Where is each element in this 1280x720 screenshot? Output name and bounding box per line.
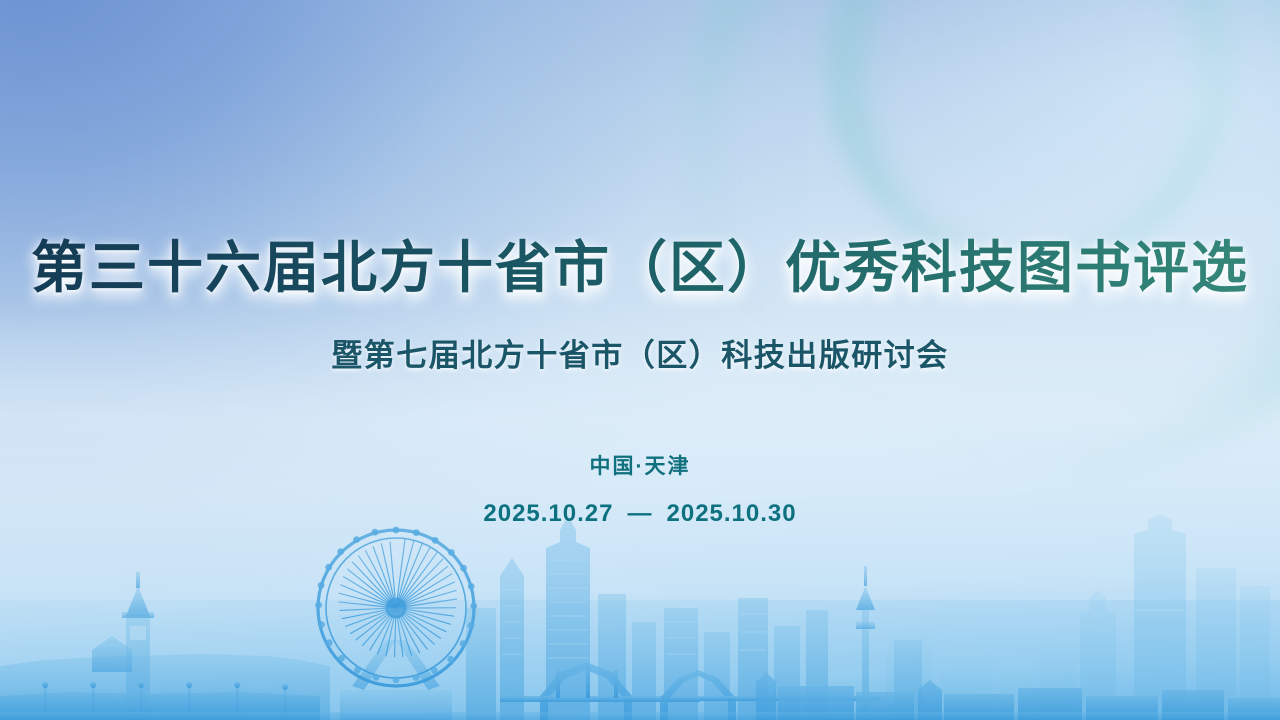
subtitle-container: 暨第七届北方十省市（区）科技出版研讨会 — [0, 304, 1280, 400]
event-location: 中国·天津 — [590, 450, 691, 480]
page-subtitle: 暨第七届北方十省市（区）科技出版研讨会 — [331, 330, 949, 375]
date-container: 2025.10.27—2025.10.30 — [0, 500, 1280, 528]
event-date-range: 2025.10.27—2025.10.30 — [483, 500, 796, 528]
poster-text-content: 第三十六届北方十省市（区）优秀科技图书评选 暨第七届北方十省市（区）科技出版研讨… — [0, 0, 1280, 720]
date-end: 2025.10.30 — [667, 500, 797, 527]
page-title: 第三十六届北方十省市（区）优秀科技图书评选 — [31, 236, 1249, 300]
location-container: 中国·天津 — [0, 450, 1280, 480]
date-start: 2025.10.27 — [483, 500, 613, 527]
conference-poster: 第三十六届北方十省市（区）优秀科技图书评选 暨第七届北方十省市（区）科技出版研讨… — [0, 0, 1280, 720]
date-separator: — — [614, 500, 667, 527]
